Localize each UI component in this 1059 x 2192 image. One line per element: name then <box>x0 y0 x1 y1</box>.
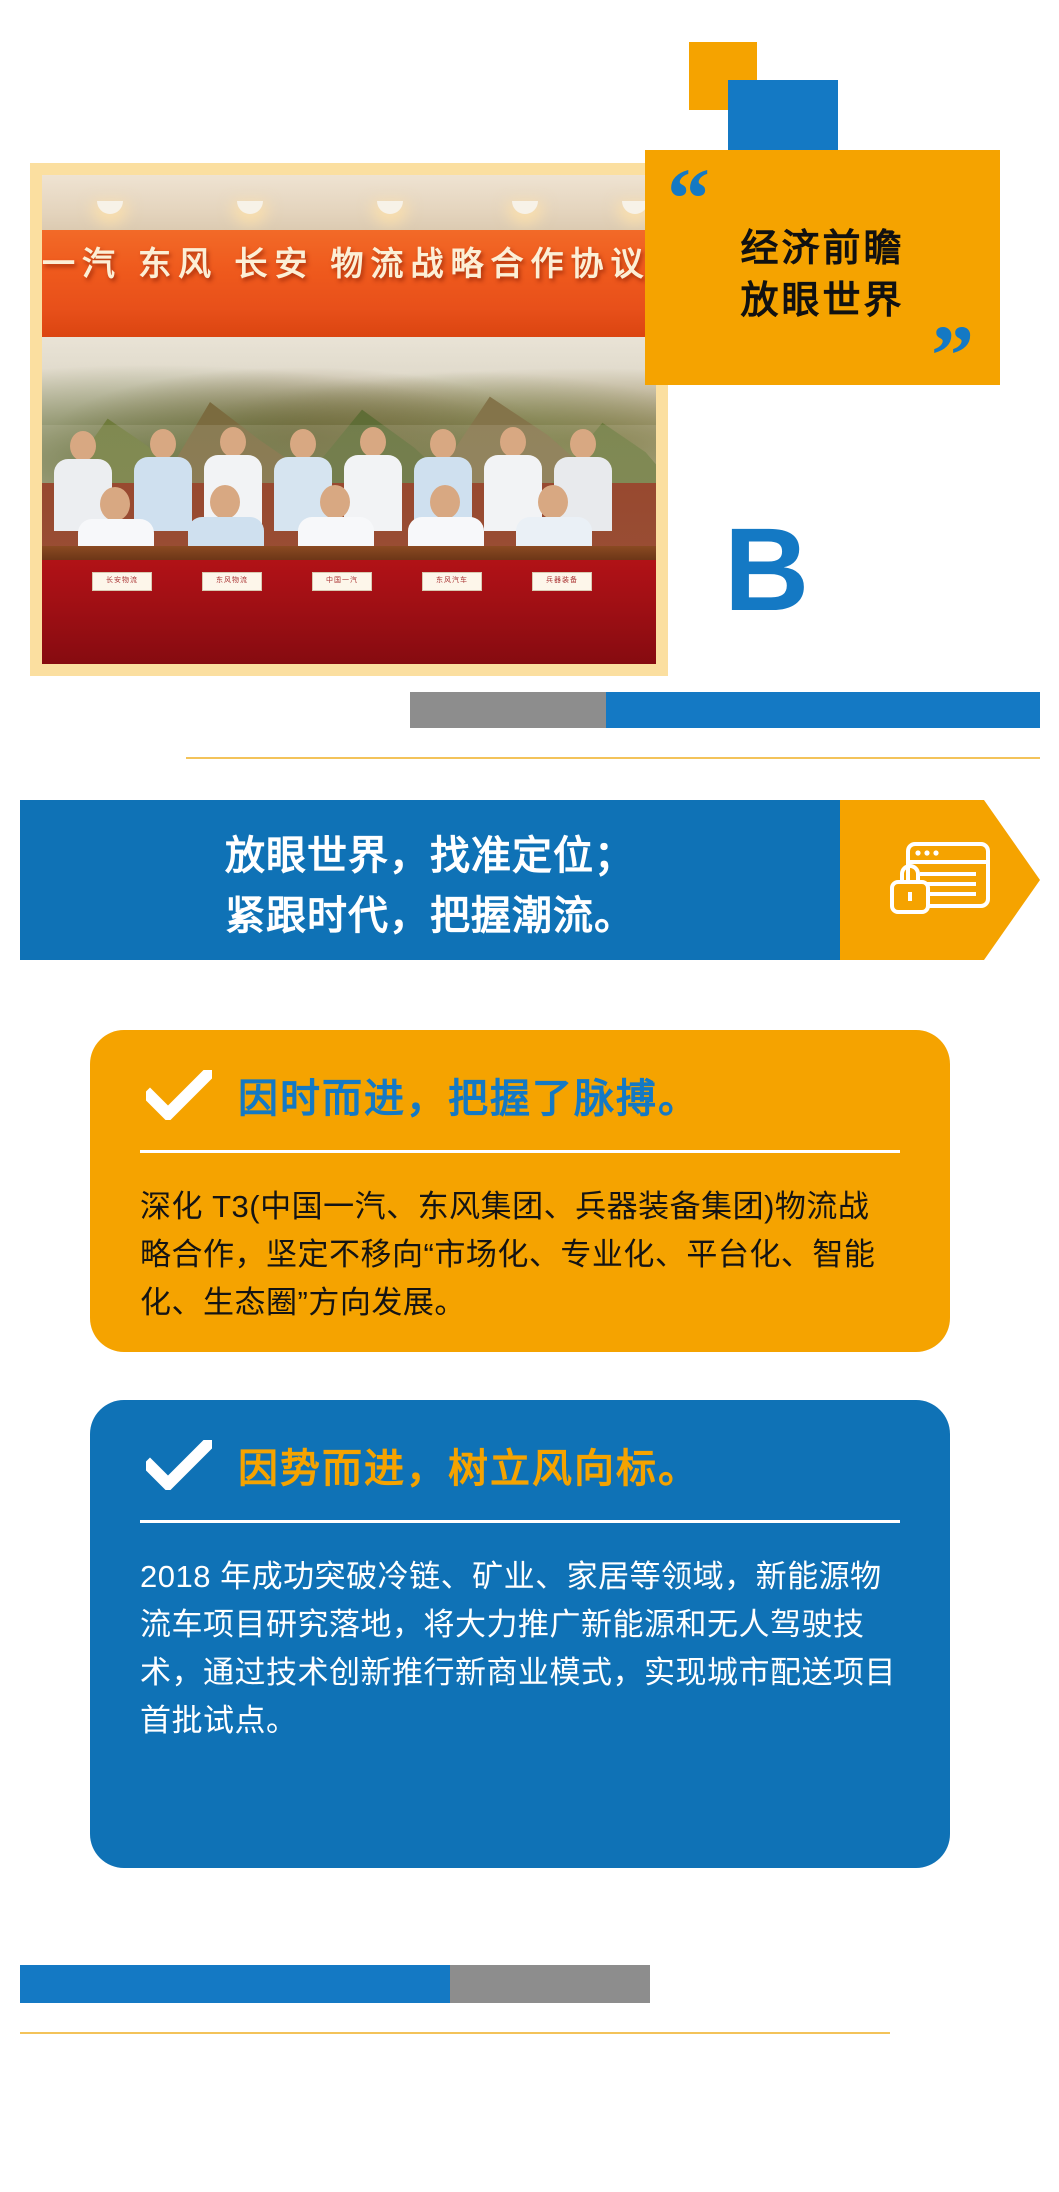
card-header: 因势而进，树立风向标。 <box>132 1436 908 1494</box>
svg-text:B: B <box>724 510 809 630</box>
photo-banner-text: 一汽 东风 长安 物流战略合作协议签约仪式 <box>42 237 656 285</box>
signing-ceremony-photo: 一汽 东风 长安 物流战略合作协议签约仪式 <box>42 175 656 664</box>
quote-card: “ 经济前瞻 放眼世界 ” <box>645 150 1000 385</box>
card-body: 深化 T3(中国一汽、东风集团、兵器装备集团)物流战略合作，坚定不移向“市场化、… <box>132 1183 908 1327</box>
secure-browser-icon <box>880 838 998 926</box>
infographic-page: 一汽 东风 长安 物流战略合作协议签约仪式 <box>0 0 1059 2192</box>
divider-hairline-gold <box>186 757 1040 759</box>
quote-open-mark: “ <box>667 166 710 231</box>
card-title: 因时而进，把握了脉搏。 <box>238 1066 700 1124</box>
quote-line-1: 经济前瞻 <box>645 224 1000 274</box>
footer-bar-blue <box>20 1965 470 2003</box>
divider-bar-blue <box>606 692 1040 728</box>
quote-close-mark: ” <box>931 323 974 388</box>
card-title: 因势而进，树立风向标。 <box>238 1436 700 1494</box>
highlight-card-orange: 因时而进，把握了脉搏。 深化 T3(中国一汽、东风集团、兵器装备集团)物流战略合… <box>90 1030 950 1352</box>
photo-signing-table: 长安物流 东风物流 中国一汽 东风汽车 兵器装备 <box>42 556 656 664</box>
card-divider <box>140 1150 900 1153</box>
card-header: 因时而进，把握了脉搏。 <box>132 1066 908 1124</box>
footer-bar-grey <box>450 1965 650 2003</box>
check-icon <box>146 1070 212 1120</box>
headline-banner: 放眼世界，找准定位； 紧跟时代，把握潮流。 <box>20 800 840 960</box>
footer-hairline-gold <box>20 2032 890 2034</box>
photo-frame: 一汽 东风 长安 物流战略合作协议签约仪式 <box>30 163 668 676</box>
highlight-card-blue: 因势而进，树立风向标。 2018 年成功突破冷链、矿业、家居等领域，新能源物流车… <box>90 1400 950 1868</box>
brand-letter-b: B <box>720 510 830 630</box>
headline-line-1: 放眼世界，找准定位； <box>20 826 840 886</box>
photo-ceiling <box>42 175 656 237</box>
headline-line-2: 紧跟时代，把握潮流。 <box>20 886 840 946</box>
divider-bar-grey <box>410 692 606 728</box>
check-icon <box>146 1440 212 1490</box>
card-body: 2018 年成功突破冷链、矿业、家居等领域，新能源物流车项目研究落地，将大力推广… <box>132 1553 908 1745</box>
card-divider <box>140 1520 900 1523</box>
